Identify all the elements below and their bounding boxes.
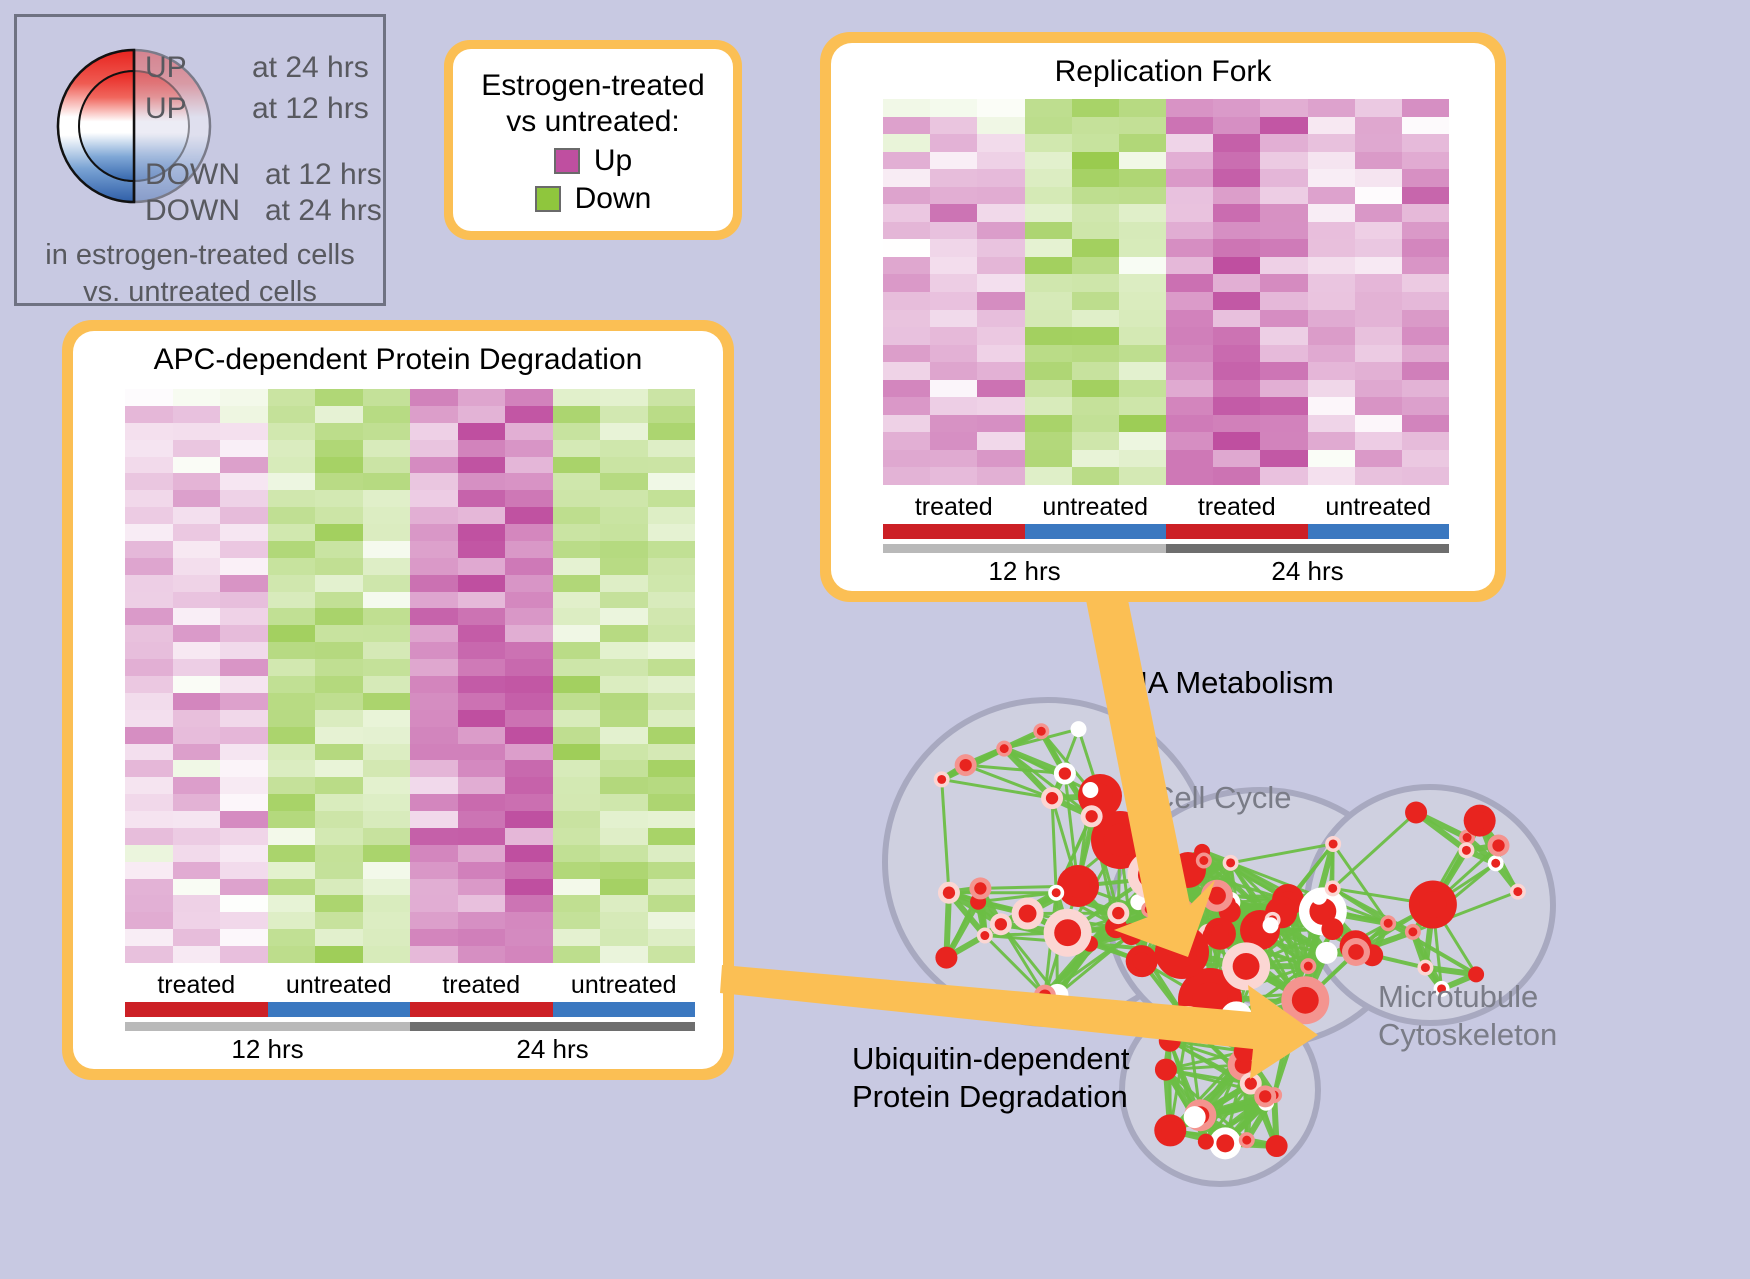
heatmap-cell	[1166, 274, 1213, 292]
heatmap-cell	[363, 777, 411, 794]
heatmap-cell	[410, 744, 458, 761]
heatmap-cell	[1025, 380, 1072, 398]
network-node-core	[959, 759, 971, 771]
heatmap-cell	[1166, 239, 1213, 257]
heatmap-cell	[410, 659, 458, 676]
heatmap-cell	[125, 676, 173, 693]
heatmap-cell	[363, 490, 411, 507]
heatmap-cell	[363, 608, 411, 625]
heatmap-cell	[1072, 292, 1119, 310]
heatmap-cell	[648, 659, 696, 676]
heatmap-cell	[553, 575, 601, 592]
heatmap-cell	[1025, 345, 1072, 363]
heatmap-cell	[220, 473, 268, 490]
heatmap-cell	[268, 879, 316, 896]
heatmap-cell	[1025, 310, 1072, 328]
heatmap-cell	[458, 946, 506, 963]
heatmap-cell	[1119, 310, 1166, 328]
heatmap-cell	[1260, 467, 1307, 485]
heatmap-cell	[125, 490, 173, 507]
network-node-core	[1245, 1077, 1257, 1089]
heatmap-cell	[977, 274, 1024, 292]
heatmap-cell	[553, 507, 601, 524]
panel-title-replication-fork: Replication Fork	[831, 55, 1495, 89]
heatmap-cell	[1025, 99, 1072, 117]
heatmap-cell	[1072, 222, 1119, 240]
heatmap-cell	[1025, 362, 1072, 380]
heatmap-cell	[315, 794, 363, 811]
heatmap-cell	[1025, 204, 1072, 222]
heatmap-cell	[410, 946, 458, 963]
heatmap-cell	[1166, 134, 1213, 152]
heatmap-cell	[1402, 397, 1449, 415]
network-node-core	[1491, 859, 1500, 868]
heatmap-cell	[648, 727, 696, 744]
heatmap-cell	[505, 828, 553, 845]
heatmap-cell	[458, 507, 506, 524]
heatmap-cell	[410, 524, 458, 541]
heatmap-cell	[648, 929, 696, 946]
heatmap-cell	[268, 760, 316, 777]
heatmap-cell	[553, 457, 601, 474]
heatmap-cell	[1166, 345, 1213, 363]
heatmap-cell	[125, 895, 173, 912]
heatmap-cell	[1308, 169, 1355, 187]
heatmap-cell	[930, 99, 977, 117]
network-node-core	[1161, 1121, 1179, 1139]
heatmap-cell	[600, 929, 648, 946]
heatmap-cell	[648, 676, 696, 693]
network-node-core	[1085, 810, 1097, 822]
heatmap-cell	[930, 117, 977, 135]
cluster-label-microtubule-cytoskeleton: MicrotubuleCytoskeleton	[1378, 978, 1557, 1054]
heatmap-cell	[1260, 204, 1307, 222]
network-node-core	[1112, 907, 1124, 919]
condition-bar-segment	[268, 1002, 411, 1017]
heatmap-cell	[553, 389, 601, 406]
heatmap-group-label: treated	[883, 493, 1025, 522]
heatmap-group-label: treated	[1166, 493, 1308, 522]
network-node-core	[1227, 1008, 1245, 1026]
heatmap-cell	[1072, 187, 1119, 205]
heatmap-cell	[173, 760, 221, 777]
heatmap-cell	[458, 727, 506, 744]
heatmap-cell	[220, 423, 268, 440]
heatmap-cell	[220, 659, 268, 676]
cluster-label-dna-metabolism: DNA Metabolism	[1103, 665, 1334, 701]
condition-bar-segment	[410, 1002, 553, 1017]
heatmap-cell	[883, 99, 930, 117]
network-node-core	[1421, 963, 1430, 972]
heatmap-cell	[553, 845, 601, 862]
heatmap-cell	[977, 327, 1024, 345]
heatmap-cell	[125, 473, 173, 490]
network-node-core	[937, 775, 946, 784]
heatmap-cell	[600, 693, 648, 710]
heatmap-cell	[410, 457, 458, 474]
heatmap-cell	[883, 239, 930, 257]
heatmap-cell	[648, 895, 696, 912]
heatmap-cell	[268, 389, 316, 406]
heatmap-cell	[1119, 117, 1166, 135]
network-node-core	[1408, 927, 1417, 936]
heatmap-cell	[648, 490, 696, 507]
network-node-core	[1054, 919, 1081, 946]
heatmap-cell	[410, 389, 458, 406]
heatmap-cell	[600, 592, 648, 609]
heatmap-cell	[1166, 222, 1213, 240]
heatmap-cell	[363, 794, 411, 811]
heatmap-cell	[458, 659, 506, 676]
heatmap-cell	[1213, 204, 1260, 222]
network-node-core	[1471, 812, 1489, 830]
heatmap-cell	[1072, 415, 1119, 433]
heatmap-cell	[315, 879, 363, 896]
heatmap-cell	[505, 693, 553, 710]
heatmap-cell	[1355, 397, 1402, 415]
heatmap-cell	[930, 415, 977, 433]
heatmap-cell	[505, 676, 553, 693]
heatmap-cell	[458, 473, 506, 490]
heatmap-cell	[930, 257, 977, 275]
heatmap-cell	[505, 490, 553, 507]
heatmap-cell	[458, 608, 506, 625]
heatmap-cell	[458, 558, 506, 575]
network-node-core	[1208, 887, 1226, 905]
heatmap-cell	[930, 134, 977, 152]
heatmap-cell	[553, 659, 601, 676]
heatmap-cell	[268, 457, 316, 474]
heatmap-cell	[1308, 187, 1355, 205]
network-node-core	[1226, 858, 1235, 867]
heatmap-cell	[1213, 99, 1260, 117]
heatmap-cell	[648, 912, 696, 929]
heatmap-cell	[458, 642, 506, 659]
heatmap-cell	[1166, 257, 1213, 275]
condition-bar-segment	[1308, 524, 1450, 539]
heatmap-cell	[173, 575, 221, 592]
heatmap-cell	[1166, 415, 1213, 433]
heatmap-cell	[1355, 432, 1402, 450]
heatmap-cell	[173, 727, 221, 744]
heatmap-cell	[600, 777, 648, 794]
network-node	[1120, 923, 1142, 945]
legend-down-24-time: at 24 hrs	[265, 194, 382, 228]
heatmap-cell	[505, 473, 553, 490]
network-node-core	[1292, 987, 1319, 1014]
heatmap-cell	[1308, 152, 1355, 170]
heatmap-cell	[505, 642, 553, 659]
heatmap-cell	[883, 467, 930, 485]
heatmap-cell	[458, 760, 506, 777]
heatmap-cell	[648, 608, 696, 625]
heatmap-cell	[977, 187, 1024, 205]
heatmap-cell	[1308, 117, 1355, 135]
heatmap-cell	[1355, 345, 1402, 363]
heatmap-cell	[1119, 415, 1166, 433]
heatmap-cell	[977, 204, 1024, 222]
heatmap-cell	[458, 744, 506, 761]
heatmap-group-label: untreated	[1308, 493, 1450, 522]
legend-up-24-time: at 24 hrs	[252, 51, 369, 85]
heatmap-cell	[1072, 327, 1119, 345]
heatmap-cell	[553, 541, 601, 558]
heatmap-cell	[268, 862, 316, 879]
heatmap-cell	[883, 345, 930, 363]
heatmap-cell	[553, 642, 601, 659]
network-node-core	[1348, 944, 1364, 960]
heatmap-cell	[173, 457, 221, 474]
heatmap-cell	[648, 575, 696, 592]
heatmap-cell	[1166, 204, 1213, 222]
heatmap-cell	[1402, 204, 1449, 222]
heatmap-cell	[125, 710, 173, 727]
heatmap-cell	[648, 389, 696, 406]
heatmap-cell	[220, 440, 268, 457]
heatmap-cell	[363, 406, 411, 423]
heatmap-cell	[648, 811, 696, 828]
heatmap-cell	[173, 608, 221, 625]
heatmap-cell	[1402, 467, 1449, 485]
heatmap-cell	[883, 292, 930, 310]
heatmap-cell	[1308, 345, 1355, 363]
heatmap-cell	[553, 440, 601, 457]
heatmap-cell	[1166, 187, 1213, 205]
heatmap-cell	[315, 558, 363, 575]
heatmap-cell	[600, 912, 648, 929]
heatmap-cell	[125, 575, 173, 592]
heatmap-cell	[220, 744, 268, 761]
heatmap-cell	[410, 642, 458, 659]
heatmap-cell	[268, 490, 316, 507]
down-swatch-icon	[535, 186, 561, 212]
heatmap-cell	[410, 777, 458, 794]
heatmap-cell	[1260, 239, 1307, 257]
heatmap-cell	[1119, 362, 1166, 380]
heatmap-cell	[1308, 450, 1355, 468]
heatmap-cell	[1119, 345, 1166, 363]
heatmap-cell	[363, 693, 411, 710]
heatmap-cell	[173, 676, 221, 693]
heatmap-cell	[1260, 134, 1307, 152]
heatmap-cell	[1308, 327, 1355, 345]
heatmap-cell	[505, 811, 553, 828]
heatmap-cell	[125, 693, 173, 710]
heatmap-cell	[363, 592, 411, 609]
heatmap-cell	[125, 592, 173, 609]
heatmap-cell	[1025, 169, 1072, 187]
network-node-core	[1086, 786, 1095, 795]
heatmap-cell	[930, 204, 977, 222]
heatmap-cell	[268, 845, 316, 862]
heatmap-cell	[410, 575, 458, 592]
heatmap-cell	[1072, 310, 1119, 328]
heatmap-cell	[220, 457, 268, 474]
heatmap-cell	[1355, 169, 1402, 187]
heatmap-cell	[883, 204, 930, 222]
heatmap-cell	[553, 727, 601, 744]
heatmap-cell	[1025, 415, 1072, 433]
heatmap-cell	[268, 811, 316, 828]
heatmap-cell	[315, 423, 363, 440]
heatmap-cell	[1119, 99, 1166, 117]
heatmap-cell	[173, 507, 221, 524]
heatmap-cell	[883, 362, 930, 380]
heatmap-cell	[600, 727, 648, 744]
heatmap-cell	[1119, 432, 1166, 450]
heatmap-cell	[363, 473, 411, 490]
heatmap-cell	[125, 541, 173, 558]
network-node-core	[943, 887, 955, 899]
heatmap-cell	[173, 490, 221, 507]
heatmap-cell	[1119, 169, 1166, 187]
heatmap-cell	[1072, 450, 1119, 468]
heatmap-cell	[220, 676, 268, 693]
heatmap-cell	[1072, 274, 1119, 292]
heatmap-cell	[410, 845, 458, 862]
heatmap-cell	[505, 862, 553, 879]
heatmap-cell	[505, 710, 553, 727]
heatmap-cell	[1119, 450, 1166, 468]
heatmap-cell	[600, 558, 648, 575]
heatmap-cell	[1260, 450, 1307, 468]
heatmap-cell	[1260, 99, 1307, 117]
network-node-core	[1000, 744, 1009, 753]
network-node-core	[1216, 1134, 1234, 1152]
heatmap-cell	[268, 440, 316, 457]
heatmap-cell	[1260, 152, 1307, 170]
heatmap-cell	[315, 389, 363, 406]
heatmap-cell	[977, 345, 1024, 363]
heatmap-cell	[315, 608, 363, 625]
heatmap-cell	[268, 659, 316, 676]
heatmap-cell	[600, 625, 648, 642]
heatmap-cell	[505, 727, 553, 744]
network-node-core	[1179, 1013, 1197, 1031]
heatmap-cell	[1166, 362, 1213, 380]
heatmap-cell	[458, 828, 506, 845]
heatmap-cell	[648, 845, 696, 862]
heatmap-cell	[1213, 117, 1260, 135]
heatmap-cell	[1260, 380, 1307, 398]
heatmap-cell	[505, 946, 553, 963]
heatmap-cell	[173, 912, 221, 929]
heatmap-cell	[553, 693, 601, 710]
heatmap-cell	[600, 406, 648, 423]
heatmap-cell	[1308, 222, 1355, 240]
heatmap-cell	[410, 625, 458, 642]
heatmap-cell	[315, 693, 363, 710]
heatmap-cell	[1072, 117, 1119, 135]
heatmap-cell	[930, 327, 977, 345]
heatmap-cell	[458, 389, 506, 406]
network-node	[1198, 1134, 1214, 1150]
legend-up-12-time: at 12 hrs	[252, 92, 369, 126]
heatmap-cell	[1355, 450, 1402, 468]
heatmap-cell	[1308, 380, 1355, 398]
heatmap-cell	[930, 397, 977, 415]
heatmap-cell	[883, 327, 930, 345]
heatmap-cell	[363, 946, 411, 963]
timepoint-label: 12 hrs	[883, 556, 1166, 587]
network-node	[1155, 1059, 1177, 1081]
heatmap-cell	[268, 507, 316, 524]
heatmap-cell	[1072, 134, 1119, 152]
heatmap-cell	[1402, 274, 1449, 292]
heatmap-cell	[1355, 467, 1402, 485]
heatmap-cell	[1308, 292, 1355, 310]
heatmap-cell	[173, 693, 221, 710]
heatmap-cell	[1402, 292, 1449, 310]
heatmap-cell	[363, 524, 411, 541]
heatmap-cell	[553, 524, 601, 541]
heatmap-cell	[268, 946, 316, 963]
heatmap-cell	[363, 845, 411, 862]
heatmap-cell	[1402, 327, 1449, 345]
heatmap-cell	[363, 862, 411, 879]
network-node-core	[1384, 919, 1393, 928]
heatmap-cell	[648, 406, 696, 423]
heatmap-cell	[173, 406, 221, 423]
panel-replication-fork: Replication Fork treateduntreatedtreated…	[820, 32, 1506, 602]
heatmap-cell	[363, 625, 411, 642]
color-legend-header: Estrogen-treatedvs untreated:	[481, 68, 704, 140]
heatmap-cell	[410, 895, 458, 912]
heatmap-cell	[363, 879, 411, 896]
heatmap-cell	[315, 760, 363, 777]
heatmap-cell	[505, 912, 553, 929]
heatmap-cell	[363, 895, 411, 912]
heatmap-cell	[1402, 169, 1449, 187]
heatmap-cell	[505, 608, 553, 625]
heatmap-cell	[1260, 222, 1307, 240]
heatmap-cell	[648, 710, 696, 727]
heatmap-cell	[1355, 292, 1402, 310]
heatmap-cell	[268, 642, 316, 659]
heatmap-cell	[125, 524, 173, 541]
heatmap-cell	[125, 845, 173, 862]
heatmap-cell	[1260, 292, 1307, 310]
network-node-core	[1462, 846, 1471, 855]
heatmap-cell	[553, 777, 601, 794]
heatmap-cell	[315, 473, 363, 490]
heatmap-cell	[125, 912, 173, 929]
heatmap-cell	[125, 625, 173, 642]
heatmap-cell	[125, 642, 173, 659]
heatmap-cell	[410, 541, 458, 558]
heatmap-cell	[977, 292, 1024, 310]
heatmap-cell	[600, 423, 648, 440]
network-node-core	[1304, 962, 1313, 971]
network-node-core	[1167, 937, 1197, 967]
heatmap-cell	[1072, 397, 1119, 415]
heatmap-cell	[1166, 467, 1213, 485]
heatmap-cell	[1355, 187, 1402, 205]
heatmap-cell	[1213, 450, 1260, 468]
network-node	[1234, 1040, 1256, 1062]
heatmap-cell	[220, 575, 268, 592]
heatmap-cell	[1166, 380, 1213, 398]
legend-caption: in estrogen-treated cellsvs. untreated c…	[17, 237, 383, 311]
network-node-core	[1492, 839, 1504, 851]
heatmap-cell	[883, 397, 930, 415]
heatmap-cell	[363, 727, 411, 744]
heatmap-cell	[410, 862, 458, 879]
heatmap-cell	[458, 490, 506, 507]
heatmap-cell	[1213, 292, 1260, 310]
network-node	[935, 947, 957, 969]
heatmap-cell	[1402, 257, 1449, 275]
